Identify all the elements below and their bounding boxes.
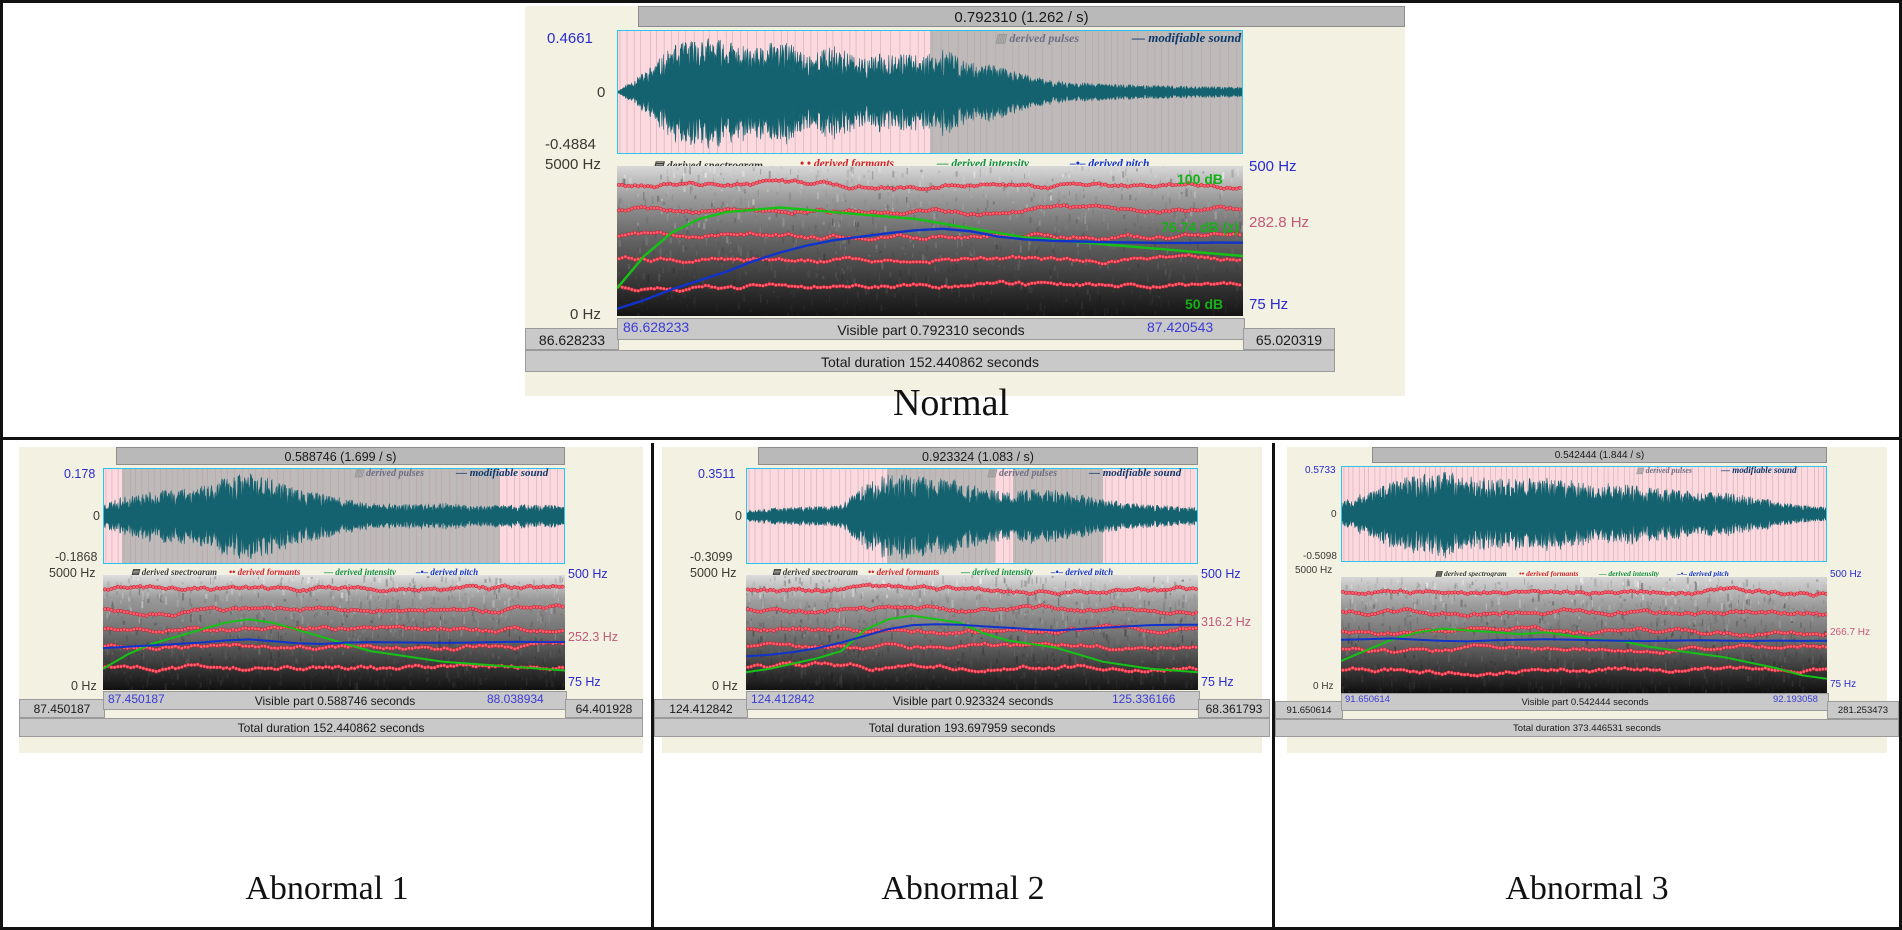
amp-min-label-abnormal2: -0.3099 xyxy=(690,550,732,564)
freq-max-label-abnormal3: 5000 Hz xyxy=(1295,565,1332,576)
right-edge-time-abnormal2[interactable]: 68.361793 xyxy=(1198,699,1270,718)
amp-max-label-abnormal2: 0.3511 xyxy=(698,467,735,481)
freq-max-label-normal: 5000 Hz xyxy=(545,156,601,173)
left-edge-time-abnormal1[interactable]: 87.450187 xyxy=(19,699,105,718)
pitch-min-label-normal: 75 Hz xyxy=(1249,296,1288,313)
amp-zero-label-abnormal3: 0 xyxy=(1331,509,1337,520)
amp-max-label-abnormal3: 0.5733 xyxy=(1305,465,1336,476)
pitch-min-label-abnormal3: 75 Hz xyxy=(1830,679,1856,690)
panel-abnormal2: 0.923324 (1.083 / s) 0.3511 0 -0.3099 ▥ … xyxy=(654,443,1275,930)
left-edge-time-abnormal3[interactable]: 91.650614 xyxy=(1275,701,1343,719)
spectrogram-normal[interactable] xyxy=(617,166,1243,316)
pitch-value-label-abnormal1: 252.3 Hz xyxy=(568,630,618,644)
spectrogram-abnormal1[interactable] xyxy=(103,575,565,690)
waveform-svg xyxy=(747,469,1197,563)
caption-abnormal2: Abnormal 2 xyxy=(654,870,1272,908)
freq-min-label-abnormal2: 0 Hz xyxy=(712,679,738,693)
right-edge-time-normal[interactable]: 65.020319 xyxy=(1243,328,1335,350)
total-duration-abnormal1: Total duration 152.440862 seconds xyxy=(19,718,643,737)
amp-max-label-abnormal1: 0.178 xyxy=(64,467,95,481)
caption-abnormal1: Abnormal 1 xyxy=(3,870,651,908)
praat-window-abnormal3: 0.542444 (1.844 / s) 0.5733 0 -0.5098 ▥ … xyxy=(1287,447,1887,753)
panel-normal: 0.792310 (1.262 / s) 0.4661 0 -0.4884 ▥ … xyxy=(3,3,1899,440)
panel-abnormal3: 0.542444 (1.844 / s) 0.5733 0 -0.5098 ▥ … xyxy=(1275,443,1899,930)
spectrogram-svg xyxy=(746,575,1198,690)
pulse-header-abnormal1: 0.588746 (1.699 / s) xyxy=(116,447,565,465)
left-edge-time-normal[interactable]: 86.628233 xyxy=(525,328,619,350)
pulse-header-abnormal2: 0.923324 (1.083 / s) xyxy=(758,447,1198,465)
spectrogram-abnormal2[interactable] xyxy=(746,575,1198,690)
spectrogram-abnormal3[interactable] xyxy=(1341,577,1827,693)
pulse-header-normal: 0.792310 (1.262 / s) xyxy=(638,6,1405,27)
pitch-value-label-abnormal3: 266.7 Hz xyxy=(1830,627,1870,638)
right-edge-time-abnormal3[interactable]: 281.253473 xyxy=(1827,701,1899,719)
end-time-abnormal2: 125.336166 xyxy=(1112,692,1175,706)
spectrogram-svg xyxy=(1341,577,1827,693)
caption-normal: Normal xyxy=(3,381,1899,425)
start-time-normal: 86.628233 xyxy=(623,319,689,335)
intensity-min-label-normal: 50 dB xyxy=(1185,296,1223,312)
freq-min-label-abnormal1: 0 Hz xyxy=(71,679,97,693)
freq-max-label-abnormal2: 5000 Hz xyxy=(690,566,737,580)
visible-part-abnormal3[interactable]: Visible part 0.542444 seconds xyxy=(1341,693,1829,711)
amp-zero-label-normal: 0 xyxy=(597,84,605,101)
pitch-min-label-abnormal1: 75 Hz xyxy=(568,675,601,689)
amp-min-label-normal: -0.4884 xyxy=(545,136,596,153)
end-time-abnormal3: 92.193058 xyxy=(1773,694,1818,705)
waveform-svg xyxy=(104,469,564,563)
pitch-max-label-normal: 500 Hz xyxy=(1249,158,1297,175)
amp-max-label-normal: 0.4661 xyxy=(547,30,593,47)
pitch-value-label-abnormal2: 316.2 Hz xyxy=(1201,615,1251,629)
pulse-header-abnormal3: 0.542444 (1.844 / s) xyxy=(1372,447,1827,463)
total-duration-abnormal2: Total duration 193.697959 seconds xyxy=(654,718,1270,737)
waveform-normal[interactable] xyxy=(617,30,1243,154)
amp-min-label-abnormal3: -0.5098 xyxy=(1303,551,1337,562)
spectrogram-svg xyxy=(103,575,565,690)
panel-abnormal1: 0.588746 (1.699 / s) 0.178 0 -0.1868 ▥ d… xyxy=(3,443,654,930)
waveform-abnormal1[interactable] xyxy=(103,468,565,564)
right-edge-time-abnormal1[interactable]: 64.401928 xyxy=(565,699,643,718)
amp-zero-label-abnormal1: 0 xyxy=(93,509,100,523)
freq-max-label-abnormal1: 5000 Hz xyxy=(49,566,96,580)
praat-window-normal: 0.792310 (1.262 / s) 0.4661 0 -0.4884 ▥ … xyxy=(525,6,1405,396)
pitch-max-label-abnormal3: 500 Hz xyxy=(1830,569,1862,580)
praat-window-abnormal1: 0.588746 (1.699 / s) 0.178 0 -0.1868 ▥ d… xyxy=(19,447,643,753)
total-duration-normal: Total duration 152.440862 seconds xyxy=(525,350,1335,372)
start-time-abnormal1: 87.450187 xyxy=(108,692,165,706)
waveform-svg xyxy=(618,31,1242,153)
praat-window-abnormal2: 0.923324 (1.083 / s) 0.3511 0 -0.3099 ▥ … xyxy=(662,447,1262,753)
intensity-value-label-normal: 76.74 dB (z) xyxy=(1161,219,1239,235)
pitch-value-label-normal: 282.8 Hz xyxy=(1249,214,1309,231)
start-time-abnormal2: 124.412842 xyxy=(751,692,814,706)
freq-min-label-normal: 0 Hz xyxy=(570,306,601,323)
spectrogram-svg xyxy=(617,166,1243,316)
intensity-max-label-normal: 100 dB xyxy=(1177,171,1223,187)
left-edge-time-abnormal2[interactable]: 124.412842 xyxy=(654,699,748,718)
total-duration-abnormal3: Total duration 373.446531 seconds xyxy=(1275,719,1899,737)
pitch-min-label-abnormal2: 75 Hz xyxy=(1201,675,1234,689)
waveform-abnormal2[interactable] xyxy=(746,468,1198,564)
end-time-normal: 87.420543 xyxy=(1147,319,1213,335)
caption-abnormal3: Abnormal 3 xyxy=(1275,870,1899,908)
waveform-abnormal3[interactable] xyxy=(1341,466,1827,562)
pitch-max-label-abnormal1: 500 Hz xyxy=(568,567,608,581)
amp-zero-label-abnormal2: 0 xyxy=(735,509,742,523)
start-time-abnormal3: 91.650614 xyxy=(1345,694,1390,705)
end-time-abnormal1: 88.038934 xyxy=(487,692,544,706)
freq-min-label-abnormal3: 0 Hz xyxy=(1313,681,1334,692)
figure-container: 0.792310 (1.262 / s) 0.4661 0 -0.4884 ▥ … xyxy=(0,0,1902,930)
pitch-max-label-abnormal2: 500 Hz xyxy=(1201,567,1241,581)
waveform-svg xyxy=(1342,467,1826,561)
amp-min-label-abnormal1: -0.1868 xyxy=(55,550,97,564)
